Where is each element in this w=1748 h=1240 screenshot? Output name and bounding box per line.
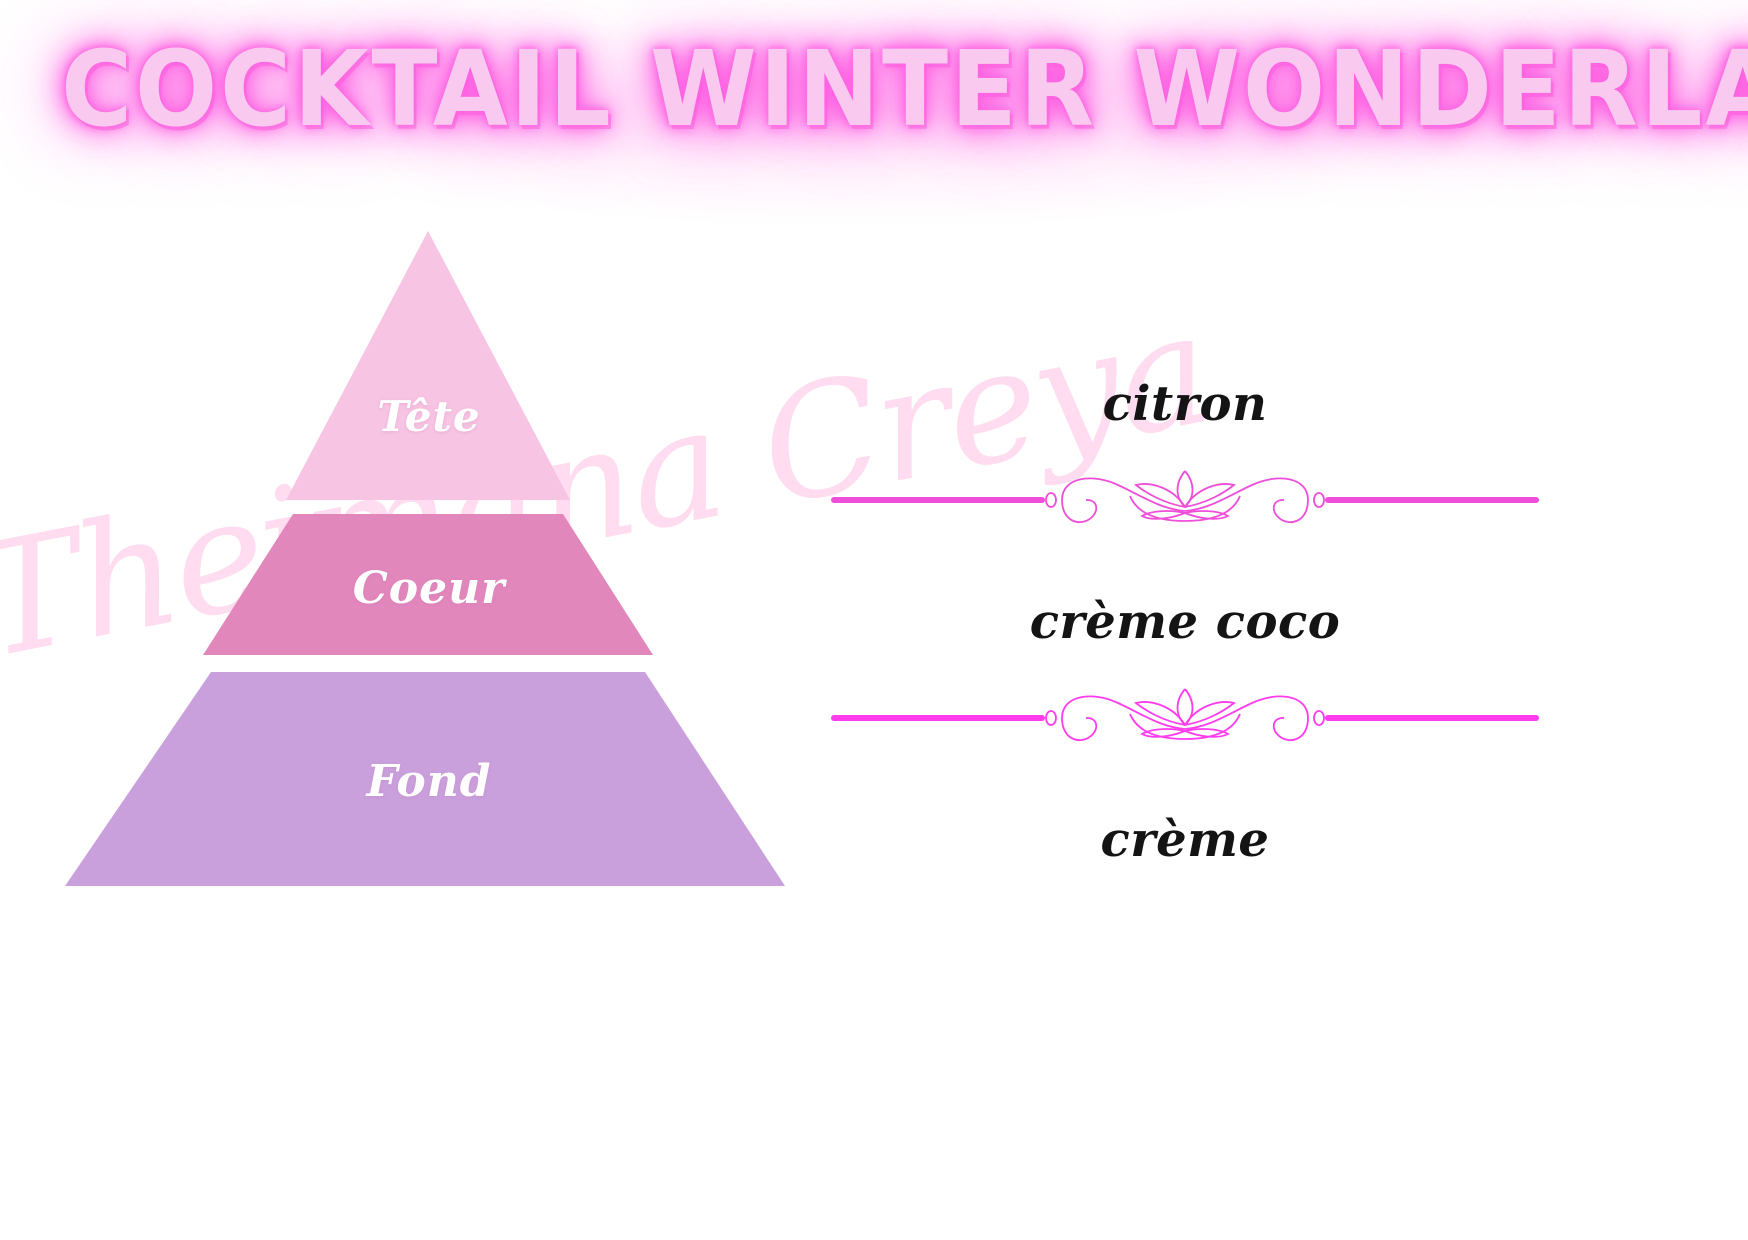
pyramid-label-tete: Tête [0,392,858,441]
note-item-middle: crème coco [830,591,1540,653]
lotus-flourish-icon [830,687,1540,747]
pyramid-label-fond: Fond [0,756,858,807]
lotus-flourish-icon [830,469,1540,529]
notes-list: citron [830,355,1540,871]
poster-canvas: COCKTAIL WINTER WONDERLAND Theimana Crey… [0,0,1748,1240]
ornament-divider-1 [830,469,1540,529]
pyramid-level-tete[interactable] [286,231,570,500]
fragrance-pyramid: Tête Coeur Fond [0,0,900,1000]
pyramid-shapes [0,0,900,1000]
note-item-top: citron [830,373,1540,435]
note-item-bottom: crème [830,809,1540,871]
pyramid-label-coeur: Coeur [0,563,858,614]
ornament-divider-2 [830,687,1540,747]
